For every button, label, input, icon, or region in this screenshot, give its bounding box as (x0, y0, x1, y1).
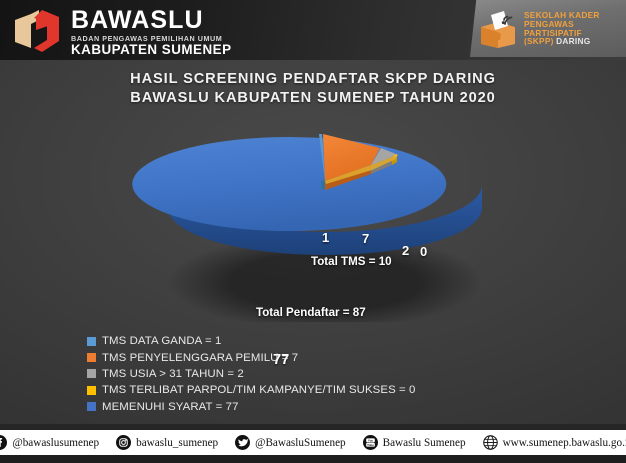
pie-value-parpol: 0 (420, 244, 427, 259)
footer-label: @bawaslusumenep (12, 437, 99, 449)
footer-facebook[interactable]: @bawaslusumenep (0, 435, 99, 450)
skpp-acronym: (SKPP) (524, 36, 554, 46)
logo-subtitle-1: BADAN PENGAWAS PEMILIHAN UMUM (71, 35, 232, 42)
chart-legend: TMS DATA GANDA = 1 TMS PENYELENGGARA PEM… (87, 333, 557, 415)
skpp-badge: SEKOLAH KADER PENGAWAS PARTISIPATIF (SKP… (470, 0, 626, 57)
chart-title-line-1: HASIL SCREENING PENDAFTAR SKPP DARING (0, 70, 626, 89)
svg-text:You: You (368, 438, 373, 442)
footer-instagram[interactable]: bawaslu_sumenep (116, 435, 218, 450)
legend-label: TMS USIA > 31 TAHUN = 2 (102, 368, 244, 380)
legend-swatch-icon (87, 353, 96, 362)
social-footer: @bawaslusumenep bawaslu_sumenep @Bawaslu… (0, 430, 626, 455)
legend-item-parpol[interactable]: TMS TERLIBAT PARPOL/TIM KAMPANYE/TIM SUK… (87, 382, 557, 398)
total-pendaftar-annotation: Total Pendaftar = 87 (256, 306, 366, 319)
legend-swatch-icon (87, 402, 96, 411)
legend-swatch-icon (87, 386, 96, 395)
legend-label: TMS DATA GANDA = 1 (102, 335, 221, 347)
legend-item-memenuhi-syarat[interactable]: MEMENUHI SYARAT = 77 (87, 399, 557, 415)
legend-label: TMS PENYELENGGARA PEMILU = 7 (102, 352, 298, 364)
slide-canvas: BAWASLU BADAN PENGAWAS PEMILIHAN UMUM KA… (0, 0, 626, 463)
legend-swatch-icon (87, 369, 96, 378)
pie-chart: 1 7 2 0 Total TMS = 10 Total Pendaftar =… (0, 112, 626, 322)
footer-label: www.sumenep.bawaslu.go.id (503, 437, 626, 449)
pie-value-penyelenggara: 7 (362, 231, 369, 246)
pie-chart-svg (0, 112, 626, 322)
chart-title: HASIL SCREENING PENDAFTAR SKPP DARING BA… (0, 70, 626, 108)
legend-label: TMS TERLIBAT PARPOL/TIM KAMPANYE/TIM SUK… (102, 384, 415, 396)
svg-text:Tube: Tube (367, 443, 374, 447)
instagram-icon (116, 435, 131, 450)
logo-title: BAWASLU (71, 8, 232, 33)
pie-slice-memenuhi-syarat (132, 137, 446, 231)
pie-value-usia: 2 (402, 243, 409, 258)
legend-label: MEMENUHI SYARAT = 77 (102, 401, 239, 413)
pie-slice-data-ganda-side (321, 180, 325, 190)
youtube-icon: You Tube (363, 435, 378, 450)
ballot-box-wifi-icon (477, 9, 519, 49)
legend-swatch-icon (87, 337, 96, 346)
bawaslu-logo: BAWASLU BADAN PENGAWAS PEMILIHAN UMUM KA… (12, 6, 232, 57)
chart-title-line-2: BAWASLU KABUPATEN SUMENEP TAHUN 2020 (0, 89, 626, 108)
facebook-icon (0, 435, 7, 450)
legend-item-penyelenggara[interactable]: TMS PENYELENGGARA PEMILU = 7 (87, 349, 557, 365)
footer-youtube[interactable]: You Tube Bawaslu Sumenep (363, 435, 466, 450)
footer-label: @BawasluSumenep (255, 437, 345, 449)
ballot-box-logo-icon (12, 7, 62, 55)
legend-item-usia[interactable]: TMS USIA > 31 TAHUN = 2 (87, 366, 557, 382)
header-band: BAWASLU BADAN PENGAWAS PEMILIHAN UMUM KA… (0, 0, 626, 60)
legend-item-data-ganda[interactable]: TMS DATA GANDA = 1 (87, 333, 557, 349)
footer-twitter[interactable]: @BawasluSumenep (235, 435, 345, 450)
footer-bottom-strip (0, 455, 626, 463)
globe-icon (483, 435, 498, 450)
logo-subtitle-2: KABUPATEN SUMENEP (71, 43, 232, 56)
pie-value-data-ganda: 1 (322, 230, 329, 245)
skpp-line-4: (SKPP) DARING (524, 37, 600, 46)
skpp-daring: DARING (554, 36, 591, 46)
twitter-icon (235, 435, 250, 450)
footer-label: Bawaslu Sumenep (383, 437, 466, 449)
total-tms-annotation: Total TMS = 10 (311, 255, 392, 268)
footer-label: bawaslu_sumenep (136, 437, 218, 449)
footer-website[interactable]: www.sumenep.bawaslu.go.id (483, 435, 626, 450)
